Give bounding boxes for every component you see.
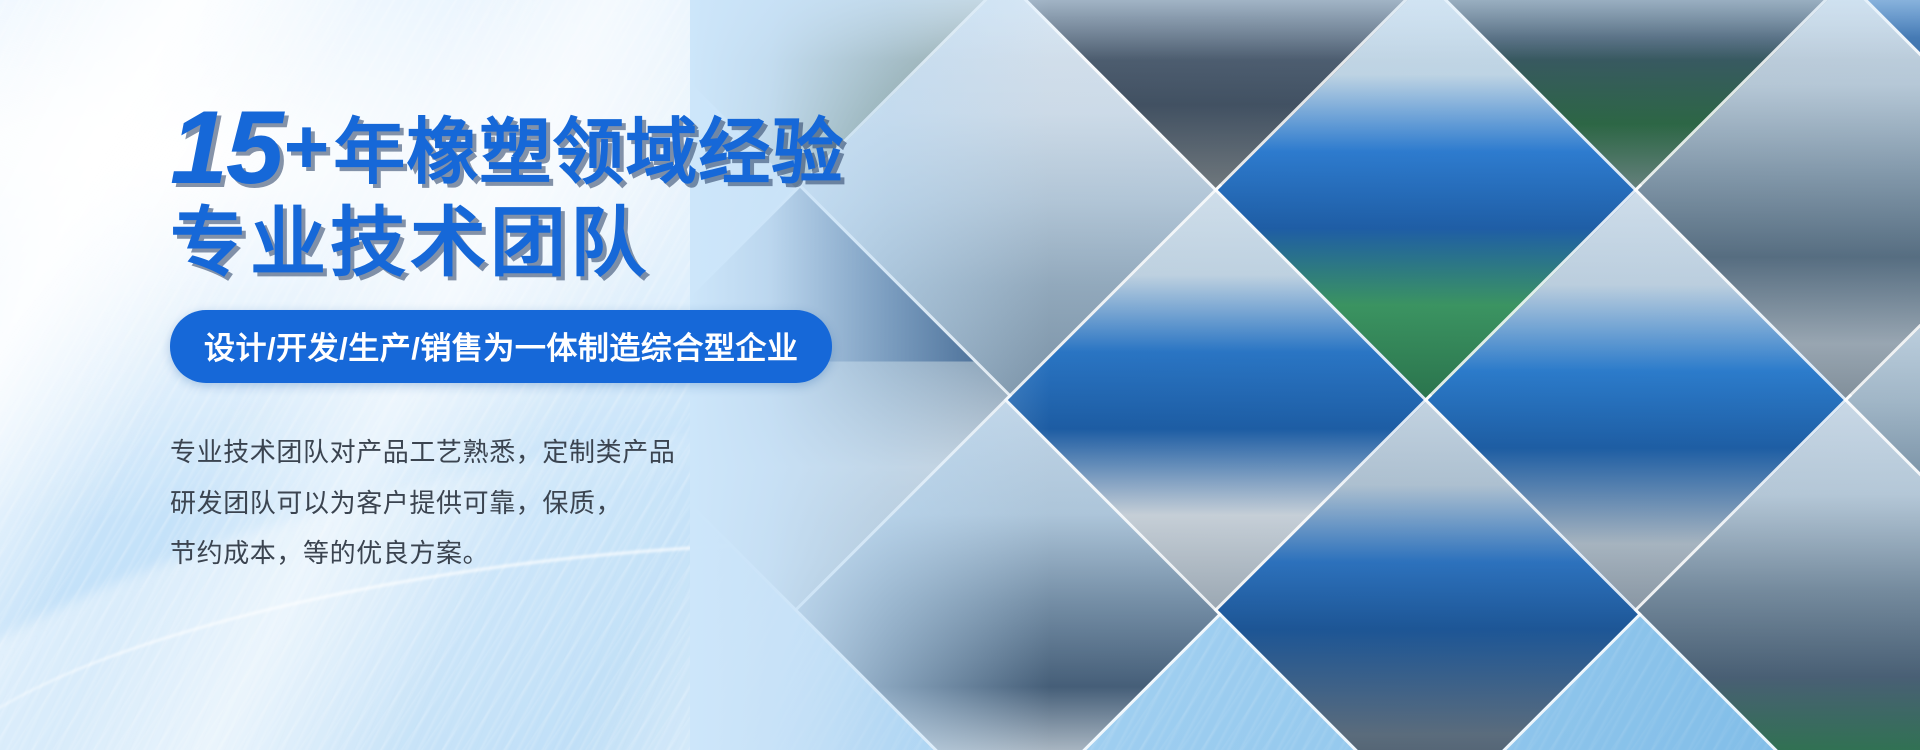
promo-banner: 15+年橡塑领域经验 专业技术团队 设计/开发/生产/销售为一体制造综合型企业 … bbox=[0, 0, 1920, 750]
headline-line-2-text: 专业技术团队 bbox=[170, 201, 650, 286]
headline-years-number: 15 bbox=[170, 90, 282, 206]
headline-line-1-text: 年橡塑领域经验 bbox=[333, 113, 844, 193]
banner-paragraph: 专业技术团队对产品工艺熟悉，定制类产品 研发团队可以为客户提供可靠，保质， 节约… bbox=[170, 427, 890, 579]
headline-line-1: 15+年橡塑领域经验 bbox=[170, 96, 890, 200]
slogan-pill: 设计/开发/生产/销售为一体制造综合型企业 bbox=[170, 310, 832, 383]
banner-copy: 15+年橡塑领域经验 专业技术团队 设计/开发/生产/销售为一体制造综合型企业 … bbox=[170, 96, 890, 579]
paragraph-line-1: 专业技术团队对产品工艺熟悉，定制类产品 bbox=[170, 427, 890, 478]
headline-plus-symbol: + bbox=[282, 102, 334, 190]
paragraph-line-2: 研发团队可以为客户提供可靠，保质， bbox=[170, 478, 890, 529]
paragraph-line-3: 节约成本，等的优良方案。 bbox=[170, 528, 890, 579]
banner-headline: 15+年橡塑领域经验 专业技术团队 bbox=[170, 96, 890, 282]
headline-line-2: 专业技术团队 bbox=[170, 206, 890, 282]
